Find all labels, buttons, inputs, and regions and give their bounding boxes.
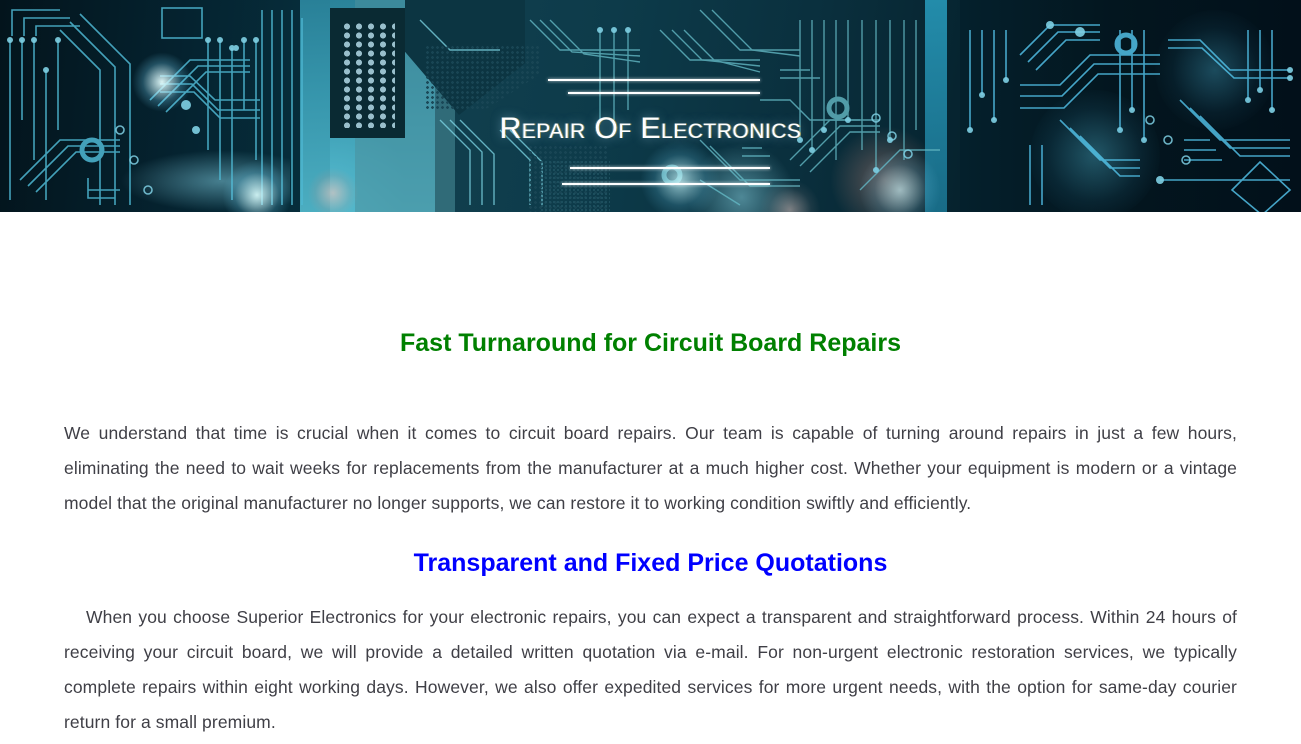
- section-paragraph-price-quotations: When you choose Superior Electronics for…: [64, 600, 1237, 740]
- banner-title: Repair Of Electronics: [0, 112, 1301, 146]
- section-gap: [64, 521, 1237, 549]
- banner-rule-top-2: [568, 92, 760, 94]
- page-content: Fast Turnaround for Circuit Board Repair…: [0, 212, 1301, 740]
- banner-rule-top-1: [548, 79, 760, 81]
- circuit-trace-artwork: [0, 0, 1301, 212]
- section-heading-fast-turnaround: Fast Turnaround for Circuit Board Repair…: [64, 329, 1237, 358]
- banner-rule-bottom-2: [562, 183, 770, 185]
- section-paragraph-fast-turnaround: We understand that time is crucial when …: [64, 416, 1237, 521]
- banner-rule-bottom-1: [570, 167, 770, 169]
- section-heading-price-quotations: Transparent and Fixed Price Quotations: [64, 549, 1237, 578]
- content-top-spacer: [64, 212, 1237, 329]
- hero-banner: Repair Of Electronics: [0, 0, 1301, 212]
